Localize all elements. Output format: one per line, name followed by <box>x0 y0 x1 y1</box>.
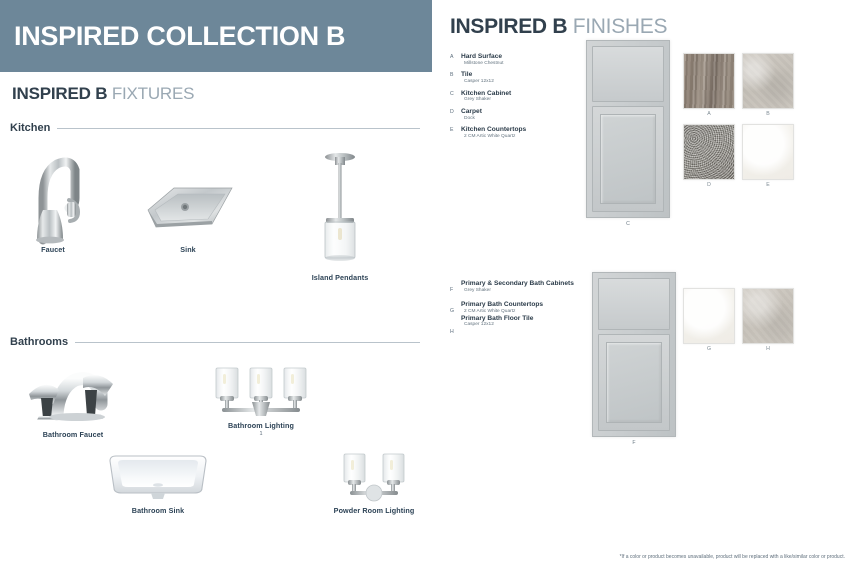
legend-name: Kitchen Countertops <box>461 126 570 134</box>
cabinet-letter: F <box>592 440 676 446</box>
cabinet-door-face <box>598 334 670 431</box>
fixture-island-pendants: Island Pendants <box>300 150 380 282</box>
swatch-b: B <box>742 53 794 109</box>
fixture-bathroom-faucet: Bathroom Faucet <box>8 360 138 439</box>
finishes-title-light: FINISHES <box>573 15 667 38</box>
finishes-column: INSPIRED B FINISHES A Hard Surface Mills… <box>440 0 853 569</box>
swatch-texture-carpet <box>683 124 735 180</box>
vanity-light-3-icon <box>208 366 314 418</box>
finishes-section-title: INSPIRED B FINISHES <box>450 15 667 39</box>
legend-desc: Grey Shaker <box>464 97 570 103</box>
fixtures-title-light: FIXTURES <box>112 84 194 103</box>
fixture-bathroom-sink: Bathroom Sink <box>104 452 212 515</box>
legend-item: A Hard Surface Millstone Chestnut <box>450 53 570 66</box>
legend-desc: Millstone Chestnut <box>464 61 570 67</box>
divider-rule <box>57 128 420 129</box>
vanity-light-2-icon <box>338 452 410 502</box>
legend-item: H Primary Bath Floor Tile Casper 12x12 <box>450 315 595 328</box>
finishes-title-bold: INSPIRED B <box>450 15 567 38</box>
disclaimer-footnote: *If a color or product becomes unavailab… <box>620 554 845 560</box>
swatch-a: A <box>683 53 735 109</box>
fixture-footnote-marker: 1 <box>196 431 326 437</box>
swatch-letter: A <box>683 111 735 117</box>
legend-name: Carpet <box>461 108 570 116</box>
group-header-bathrooms: Bathrooms <box>10 336 420 348</box>
swatch-texture-countertop <box>742 124 794 180</box>
legend-letter: C <box>450 91 454 97</box>
fixture-label: Bathroom Lighting <box>196 421 326 430</box>
page-title: INSPIRED COLLECTION B <box>0 21 345 52</box>
legend-item: B Tile Casper 12x12 <box>450 71 570 84</box>
fixtures-section-title: INSPIRED B FIXTURES <box>12 84 194 104</box>
legend-item: E Kitchen Countertops 2 CM Artic White Q… <box>450 126 570 139</box>
legend-desc: Dock <box>464 116 570 122</box>
cabinet-body <box>586 40 670 218</box>
kitchen-faucet-icon <box>17 140 89 245</box>
legend-item: F Primary & Secondary Bath Cabinets Grey… <box>450 280 595 293</box>
fixture-bathroom-lighting: Bathroom Lighting 1 <box>196 366 326 437</box>
fixture-label: Powder Room Lighting <box>306 506 442 515</box>
swatch-letter: E <box>742 182 794 188</box>
cabinet-inset-panel <box>600 114 656 204</box>
page-header: INSPIRED COLLECTION B <box>0 0 432 72</box>
swatch-letter: H <box>742 346 794 352</box>
swatch-letter: D <box>683 182 735 188</box>
fixture-label: Bathroom Sink <box>104 506 212 515</box>
legend-letter: B <box>450 72 453 78</box>
fixture-powder-room-lighting: Powder Room Lighting <box>306 452 442 515</box>
kitchen-cabinet-door: C <box>586 40 670 218</box>
swatch-d: D <box>683 124 735 180</box>
cabinet-letter: C <box>586 221 670 227</box>
fixtures-title-bold: INSPIRED B <box>12 84 107 103</box>
bath-cabinet-door: F <box>592 272 676 437</box>
bathroom-sink-icon <box>106 452 210 502</box>
group-label-kitchen: Kitchen <box>10 122 50 134</box>
fixture-sink: Sink <box>140 180 236 254</box>
cabinet-drawer <box>592 46 664 102</box>
cabinet-drawer <box>598 278 670 330</box>
swatch-letter: B <box>742 111 794 117</box>
swatch-texture-hard-surface <box>683 53 735 109</box>
legend-item: C Kitchen Cabinet Grey Shaker <box>450 90 570 103</box>
legend-desc: Casper 12x12 <box>464 79 570 85</box>
finishes-legend-secondary: F Primary & Secondary Bath Cabinets Grey… <box>450 280 595 328</box>
fixture-label: Sink <box>140 245 236 254</box>
legend-item: G Primary Bath Countertops 2 CM Artic Wh… <box>450 301 595 314</box>
legend-letter: F <box>450 287 453 293</box>
cabinet-inset-panel <box>606 342 662 423</box>
legend-letter: E <box>450 127 453 133</box>
fixture-faucet: Faucet <box>8 140 98 254</box>
group-label-bathrooms: Bathrooms <box>10 336 68 348</box>
legend-name: Hard Surface <box>461 53 570 61</box>
swatch-g: G <box>683 288 735 344</box>
finishes-legend-primary: A Hard Surface Millstone Chestnut B Tile… <box>450 53 570 145</box>
kitchen-sink-icon <box>140 180 236 242</box>
bathroom-faucet-icon <box>17 360 129 426</box>
fixture-label: Bathroom Faucet <box>8 430 138 439</box>
legend-desc: Grey Shaker <box>464 288 595 294</box>
legend-name: Tile <box>461 71 570 79</box>
legend-letter: H <box>450 329 454 335</box>
fixtures-column: INSPIRED COLLECTION B INSPIRED B FIXTURE… <box>0 0 432 569</box>
swatch-e: E <box>742 124 794 180</box>
cabinet-door-face <box>592 106 664 212</box>
divider-rule <box>75 342 420 343</box>
cabinet-body <box>592 272 676 437</box>
swatch-texture-bath-floor-tile <box>742 288 794 344</box>
legend-desc: Casper 12x12 <box>464 322 595 328</box>
fixture-label: Faucet <box>8 245 98 254</box>
swatch-letter: G <box>683 346 735 352</box>
legend-name: Primary & Secondary Bath Cabinets <box>461 280 595 288</box>
legend-letter: G <box>450 308 454 314</box>
legend-letter: A <box>450 54 453 60</box>
swatch-texture-tile <box>742 53 794 109</box>
fixture-label: Island Pendants <box>300 273 380 282</box>
legend-item: D Carpet Dock <box>450 108 570 121</box>
legend-name: Primary Bath Countertops <box>461 301 595 309</box>
swatch-h: H <box>742 288 794 344</box>
group-header-kitchen: Kitchen <box>10 122 420 134</box>
legend-desc: 2 CM Artic White Quartz <box>464 134 570 140</box>
pendant-light-icon <box>313 150 367 268</box>
swatch-texture-bath-countertop <box>683 288 735 344</box>
legend-letter: D <box>450 109 454 115</box>
